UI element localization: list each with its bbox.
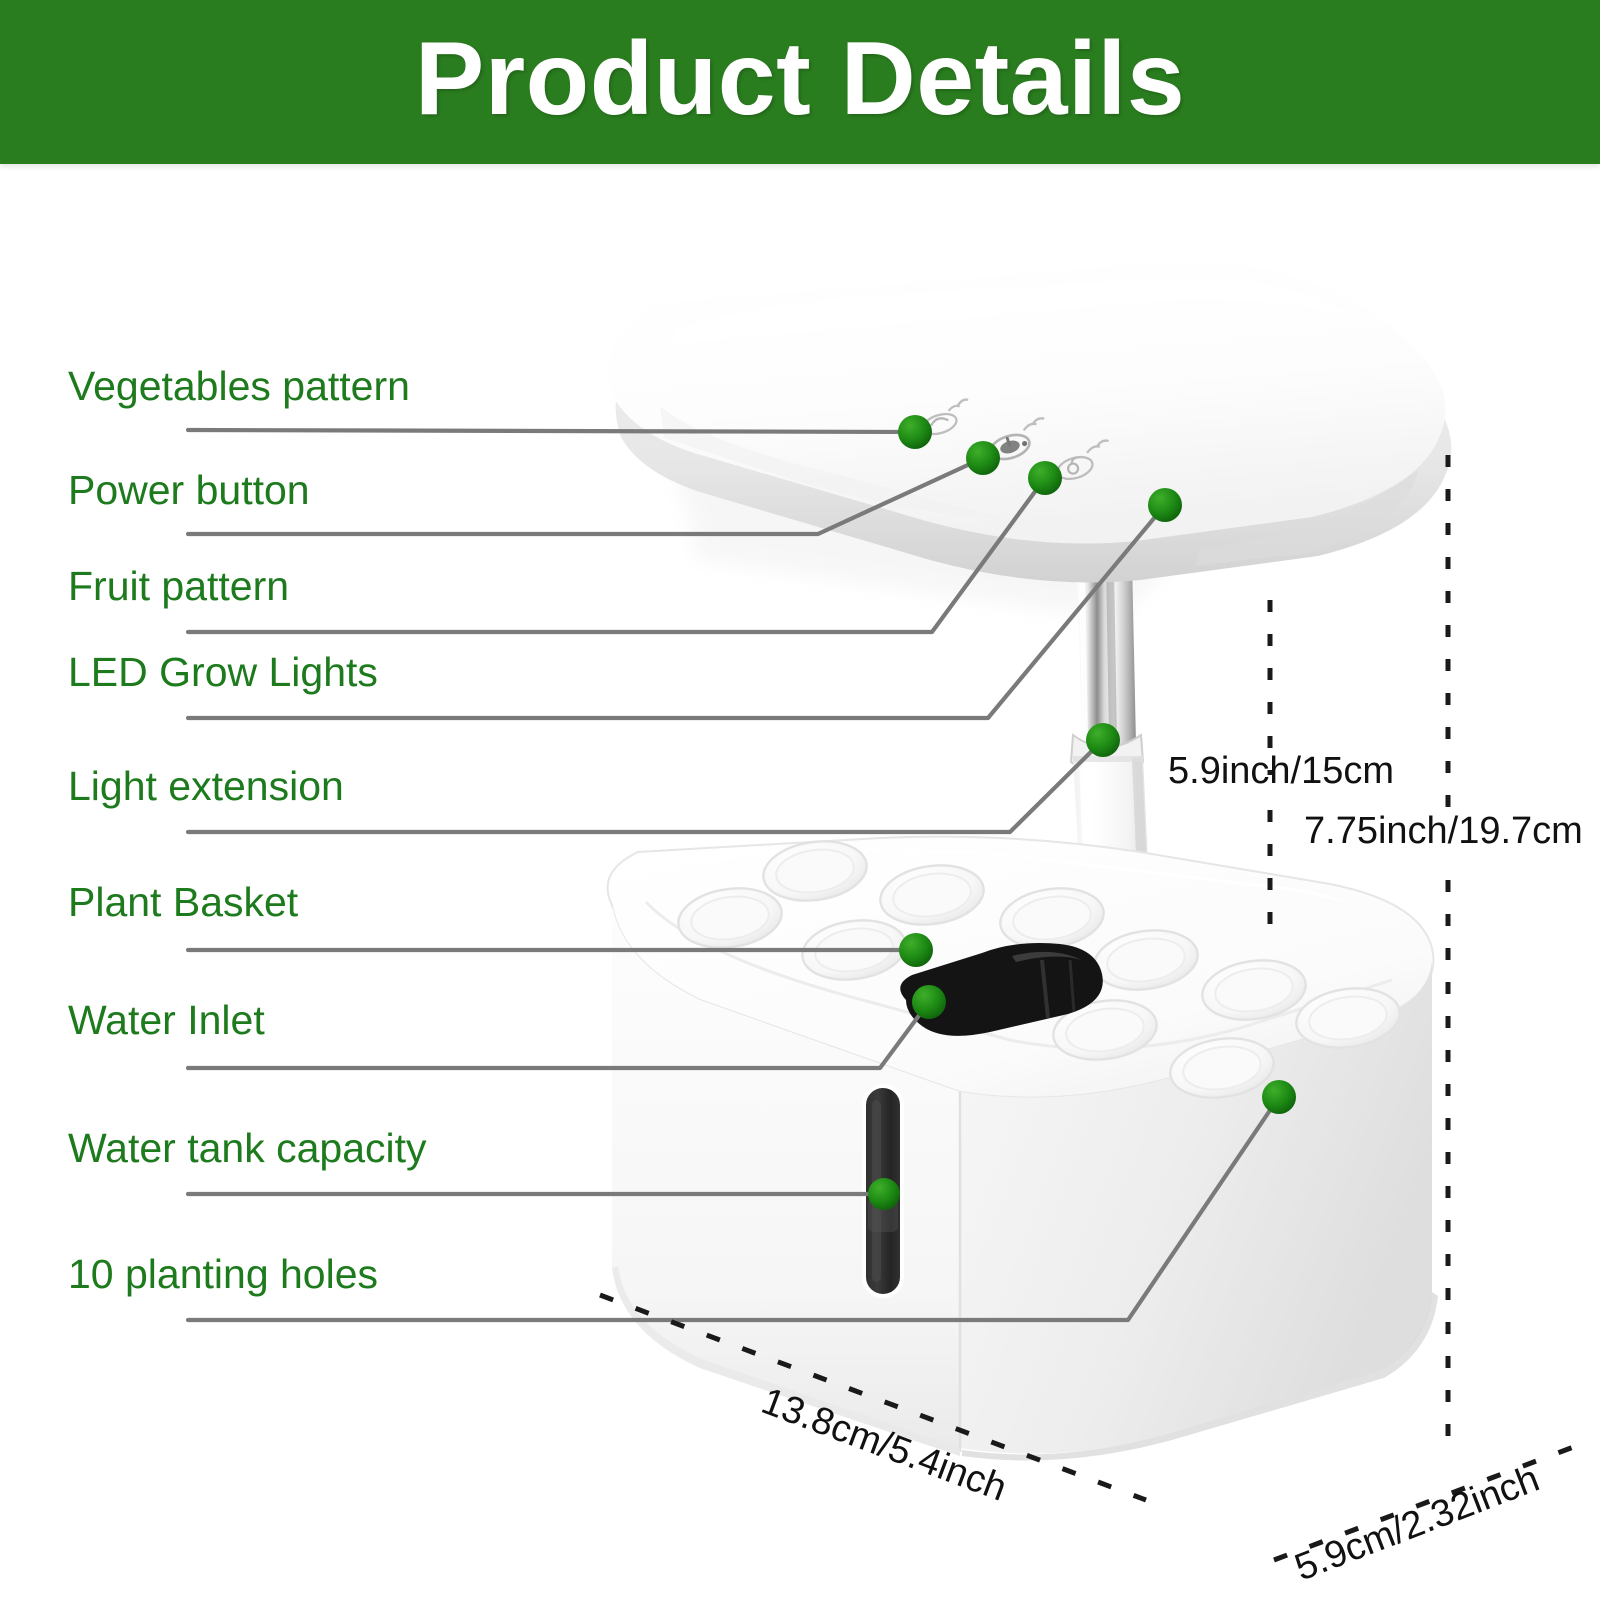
callout-dot-water-inlet bbox=[912, 985, 946, 1019]
callout-dot-vegetables-pattern bbox=[898, 415, 932, 449]
callout-dot-power-button bbox=[966, 441, 1000, 475]
callout-label-fruit-pattern: Fruit pattern bbox=[68, 566, 289, 607]
callout-dot-planting-holes bbox=[1262, 1080, 1296, 1114]
callout-label-10-planting-holes: 10 planting holes bbox=[68, 1254, 378, 1295]
callout-label-light-extension: Light extension bbox=[68, 766, 344, 807]
dimension-label-total-height: 7.75inch/19.7cm bbox=[1304, 812, 1583, 850]
leader-line-vegetables-pattern bbox=[188, 430, 915, 432]
callout-label-water-tank-capacity: Water tank capacity bbox=[68, 1128, 427, 1169]
callout-label-water-inlet: Water Inlet bbox=[68, 1000, 265, 1041]
callout-dot-light-extension bbox=[1086, 723, 1120, 757]
callout-label-vegetables-pattern: Vegetables pattern bbox=[68, 366, 410, 407]
callout-dot-plant-basket bbox=[899, 933, 933, 967]
callout-label-plant-basket: Plant Basket bbox=[68, 882, 298, 923]
product-details-infographic: Product Details bbox=[0, 0, 1600, 1600]
callout-label-led-grow-lights: LED Grow Lights bbox=[68, 652, 378, 693]
callout-dot-water-tank bbox=[868, 1178, 900, 1210]
callout-dot-fruit-pattern bbox=[1028, 461, 1062, 495]
dimension-label-light-height: 5.9inch/15cm bbox=[1168, 752, 1394, 790]
callout-label-power-button: Power button bbox=[68, 470, 310, 511]
callout-dot-led-grow-lights bbox=[1148, 488, 1182, 522]
